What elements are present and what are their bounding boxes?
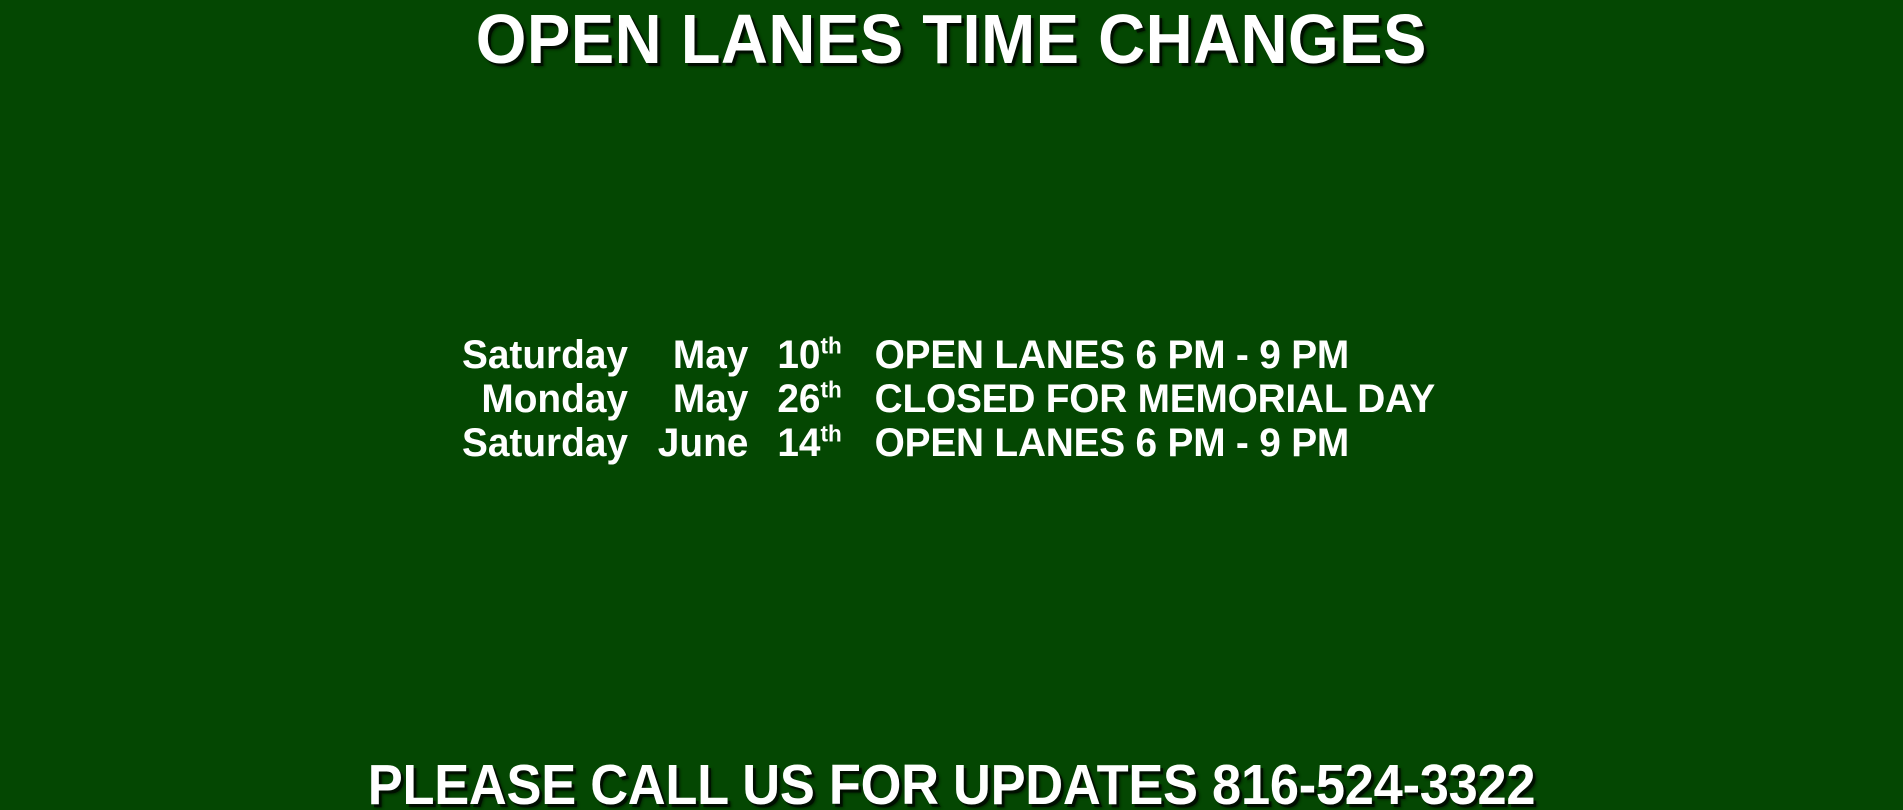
row-date: 26th [777,377,865,421]
row-date: 14th [777,421,865,465]
row-description: CLOSED FOR MEMORIAL DAY [875,377,1435,421]
row-date-number: 10 [777,333,820,377]
page-title-text: OPEN LANES TIME CHANGES [476,1,1427,77]
row-date-ordinal: th [820,377,841,403]
footer-message-text: PLEASE CALL US FOR UPDATES 816-524-3322 [368,754,1536,810]
row-month: May [658,377,774,421]
table-row: Monday May 26th CLOSED FOR MEMORIAL DAY [459,377,1444,421]
row-description: OPEN LANES 6 PM - 9 PM [875,333,1435,377]
table-row: Saturday May 10th OPEN LANES 6 PM - 9 PM [459,333,1444,377]
row-date-ordinal: th [820,333,841,359]
schedule-table-body: Saturday May 10th OPEN LANES 6 PM - 9 PM… [459,333,1444,465]
row-description: OPEN LANES 6 PM - 9 PM [875,421,1435,465]
row-date-number: 26 [777,377,820,421]
row-date-ordinal: th [820,421,841,447]
sign-board: OPEN LANES TIME CHANGES Saturday May 10t… [0,0,1903,810]
row-month: June [658,421,774,465]
row-day: Saturday [462,333,653,377]
row-date-number: 14 [777,421,820,465]
row-date: 10th [777,333,865,377]
page-title: OPEN LANES TIME CHANGES [0,1,1903,77]
row-day: Saturday [462,421,653,465]
schedule-block: Saturday May 10th OPEN LANES 6 PM - 9 PM… [0,333,1903,465]
row-day: Monday [462,377,653,421]
schedule-table: Saturday May 10th OPEN LANES 6 PM - 9 PM… [459,333,1444,465]
footer-message: PLEASE CALL US FOR UPDATES 816-524-3322 [0,754,1903,810]
row-month: May [658,333,774,377]
table-row: Saturday June 14th OPEN LANES 6 PM - 9 P… [459,421,1444,465]
